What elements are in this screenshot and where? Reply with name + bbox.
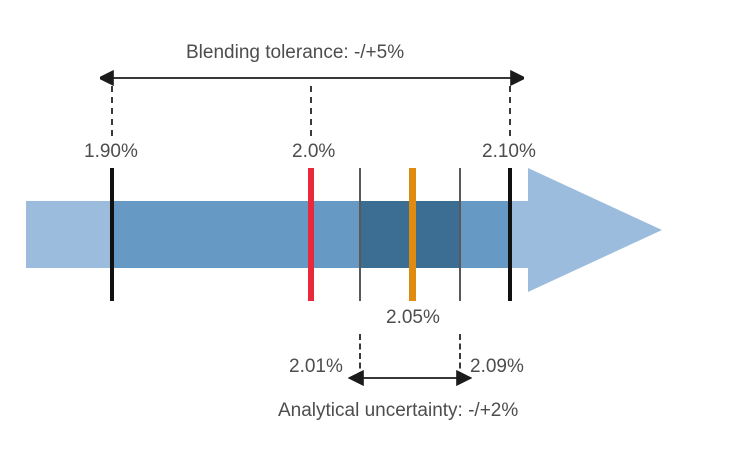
analytical-uncertainty-span-arrow <box>348 366 472 390</box>
leader-line-lower-tolerance <box>111 86 113 136</box>
label-measured-value: 2.05% <box>386 308 440 327</box>
blending-tolerance-span-arrow <box>100 66 524 90</box>
label-upper-tolerance: 2.10% <box>482 142 536 161</box>
process-arrow-head <box>528 168 662 292</box>
marker-upper-tolerance-line <box>508 168 512 301</box>
leader-line-upper-tolerance <box>509 86 511 136</box>
marker-nominal-line <box>308 168 314 301</box>
blending-tolerance-caption: Blending tolerance: -/+5% <box>186 43 404 62</box>
label-nominal: 2.0% <box>292 142 335 161</box>
marker-measured-line <box>409 168 416 301</box>
label-uncertainty-high: 2.09% <box>470 357 524 376</box>
tolerance-diagram: Blending tolerance: -/+5% 1.90% 2.0% 2.1… <box>0 0 735 460</box>
leader-line-nominal <box>310 86 312 136</box>
label-uncertainty-low: 2.01% <box>289 357 343 376</box>
marker-lower-tolerance-line <box>110 168 114 301</box>
analytical-uncertainty-caption: Analytical uncertainty: -/+2% <box>278 401 518 420</box>
marker-uncertainty-high-line <box>459 168 461 301</box>
label-lower-tolerance: 1.90% <box>84 142 138 161</box>
marker-uncertainty-low-line <box>359 168 361 301</box>
